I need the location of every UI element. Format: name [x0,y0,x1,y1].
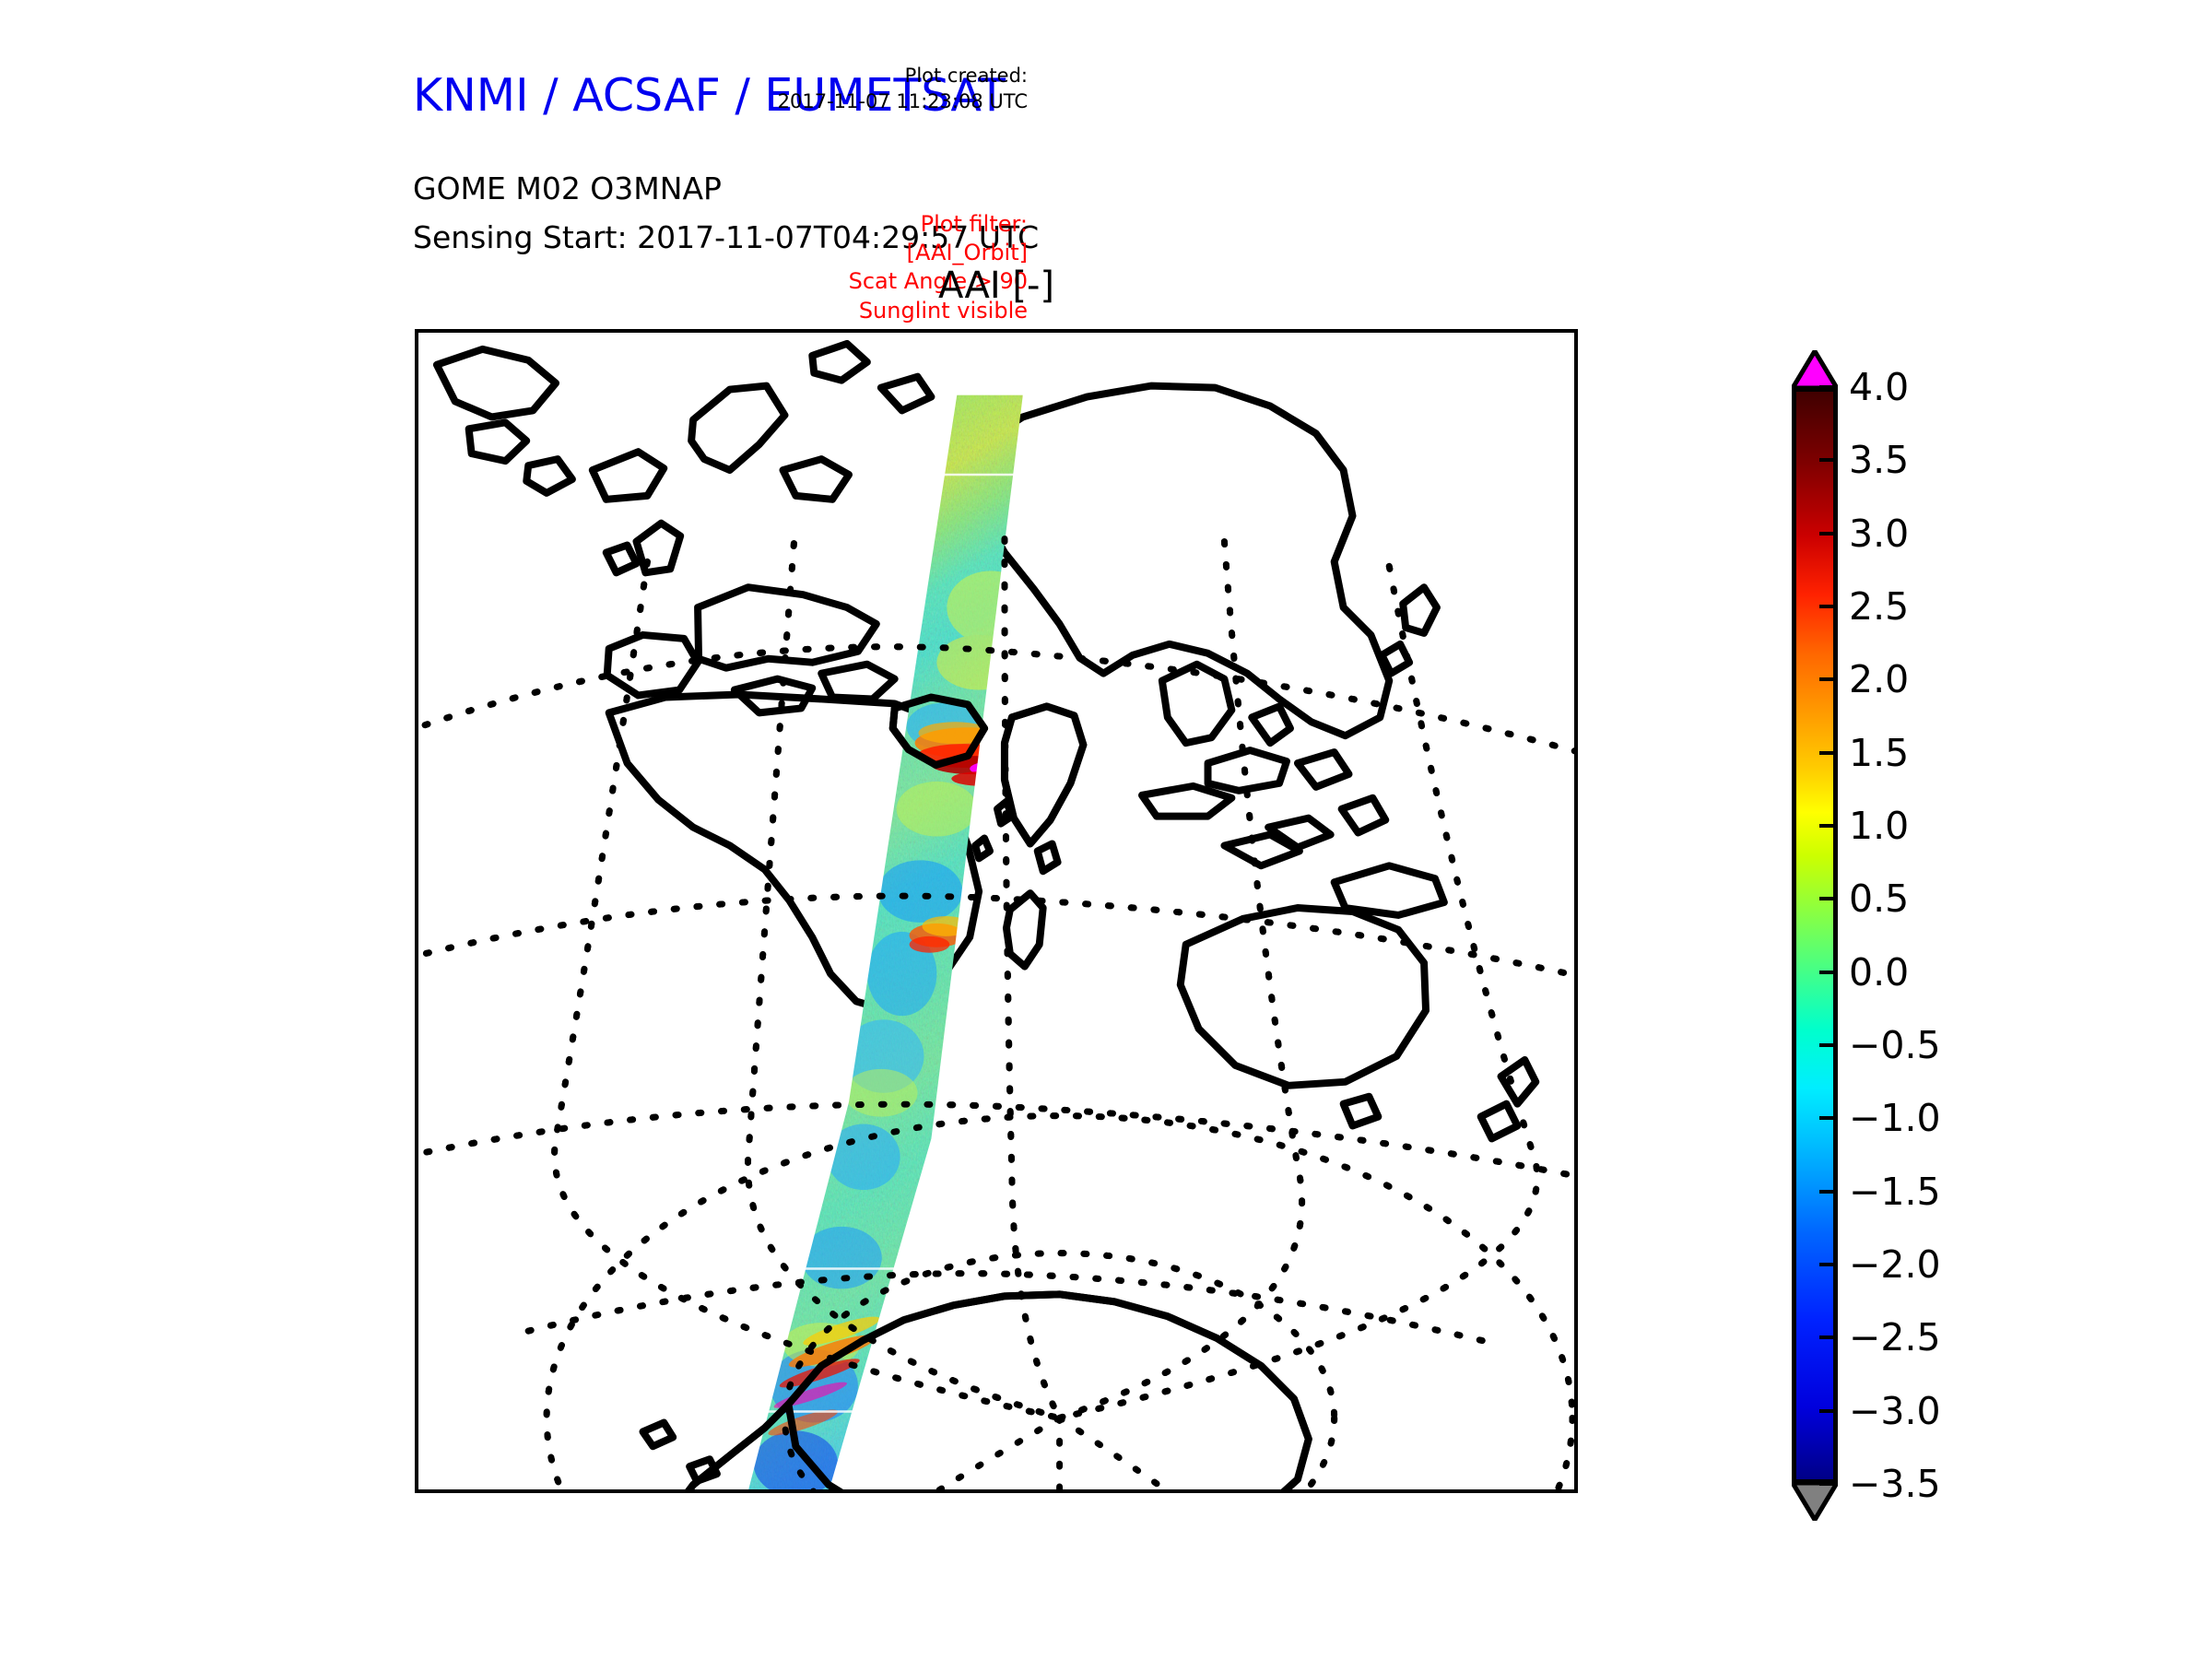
colorbar-tick-label: 3.5 [1849,438,1909,482]
map-plot-area [415,329,1578,1493]
colorbar-tick-label: −1.5 [1849,1170,1941,1214]
colorbar-tick [1819,1043,1837,1047]
colorbar-tick-label: −2.0 [1849,1242,1941,1287]
colorbar-tick-label: 1.5 [1849,731,1909,775]
colorbar-gradient [1792,387,1838,1484]
colorbar-tick [1819,1116,1837,1120]
colorbar-tick-label: 4.0 [1849,365,1909,409]
plot-filter-line-1: [AAI_Orbit] [724,239,1028,267]
plot-created-block: Plot created: 2017-11-07 11:23:08 UTC [751,63,1028,115]
plot-created-timestamp: 2017-11-07 11:23:08 UTC [751,88,1028,114]
colorbar-tick [1819,677,1837,681]
colorbar-tick [1819,971,1837,974]
colorbar-tick-label: 3.0 [1849,512,1909,556]
colorbar-tick [1819,1482,1837,1486]
graticule [418,539,1574,1489]
colorbar-tick [1819,458,1837,462]
colorbar-tick [1819,897,1837,900]
colorbar-tick-label: 2.5 [1849,584,1909,629]
colorbar-tick [1819,1263,1837,1266]
colorbar-tick-label: −3.0 [1849,1389,1941,1433]
colorbar-tick [1819,1409,1837,1413]
chart-title: AAI [-] [415,265,1578,307]
colorbar-under-arrow [1792,1482,1838,1521]
colorbar-tick-label: −1.0 [1849,1096,1941,1140]
colorbar-tick [1819,385,1837,389]
plot-created-label: Plot created: [751,63,1028,88]
aai-swath [721,388,1051,1489]
colorbar-tick [1819,1335,1837,1339]
colorbar-tick [1819,532,1837,535]
colorbar-tick-label: 0.0 [1849,950,1909,994]
instrument-label: GOME M02 O3MNAP [413,171,722,206]
colorbar-tick [1819,1190,1837,1194]
colorbar-tick-label: −3.5 [1849,1462,1941,1506]
colorbar-tick-label: 0.5 [1849,877,1909,921]
world-map [418,333,1574,1489]
colorbar-tick-label: −0.5 [1849,1023,1941,1067]
graticule-overlay [418,539,1574,1489]
colorbar-tick-label: −2.5 [1849,1315,1941,1359]
colorbar-over-arrow [1792,350,1838,389]
colorbar-tick-label: 2.0 [1849,657,1909,701]
colorbar-tick [1819,605,1837,608]
plot-filter-line-0: Plot filter: [724,210,1028,239]
colorbar-tick [1819,751,1837,755]
colorbar-tick-label: 1.0 [1849,804,1909,848]
colorbar-tick [1819,824,1837,828]
